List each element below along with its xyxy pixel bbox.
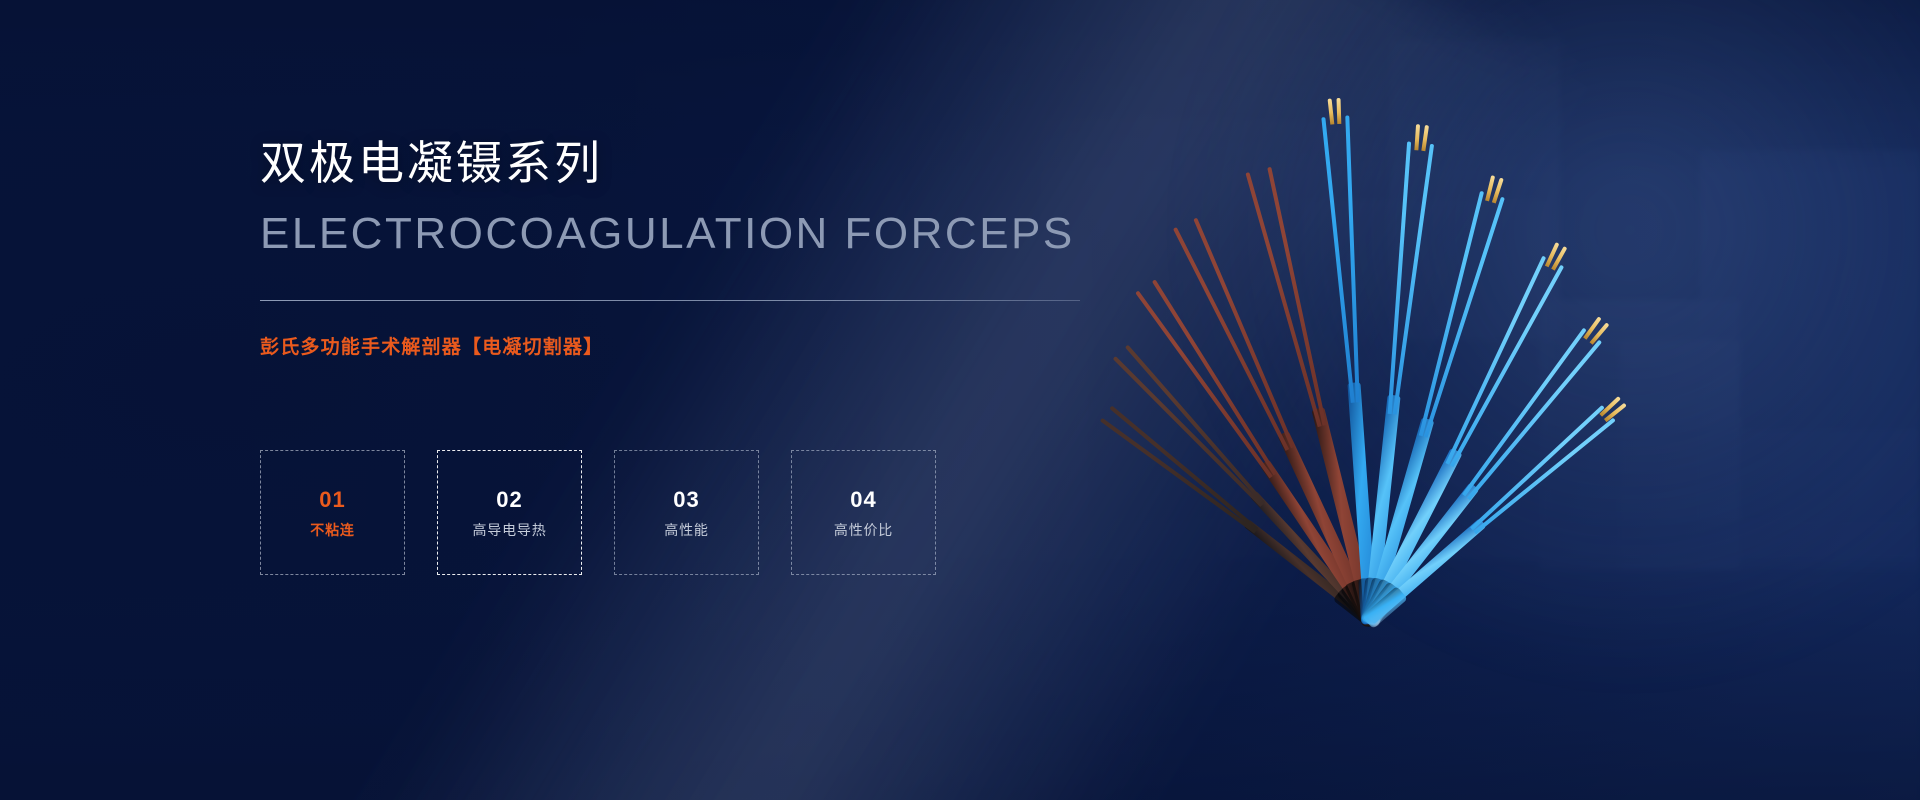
feature-card-02[interactable]: 02 高导电导热 bbox=[437, 450, 582, 575]
feature-card-04[interactable]: 04 高性价比 bbox=[791, 450, 936, 575]
page-subtitle-english: ELECTROCOAGULATION FORCEPS bbox=[260, 212, 1075, 256]
feature-number: 04 bbox=[850, 489, 876, 511]
product-hero-banner: 双极电凝镊系列 ELECTROCOAGULATION FORCEPS 彭氏多功能… bbox=[0, 0, 1920, 800]
feature-number: 02 bbox=[496, 489, 522, 511]
product-tagline: 彭氏多功能手术解剖器【电凝切割器】 bbox=[260, 338, 603, 357]
hero-content: 双极电凝镊系列 ELECTROCOAGULATION FORCEPS 彭氏多功能… bbox=[260, 0, 1140, 800]
page-title: 双极电凝镊系列 bbox=[260, 140, 603, 186]
feature-number: 01 bbox=[319, 489, 345, 511]
feature-label: 高性能 bbox=[664, 523, 708, 537]
feature-card-03[interactable]: 03 高性能 bbox=[614, 450, 759, 575]
divider bbox=[260, 300, 1080, 301]
feature-list: 01 不粘连 02 高导电导热 03 高性能 04 高性价比 bbox=[260, 450, 936, 575]
feature-card-01[interactable]: 01 不粘连 bbox=[260, 450, 405, 575]
feature-number: 03 bbox=[673, 489, 699, 511]
feature-label: 不粘连 bbox=[310, 523, 354, 537]
feature-label: 高性价比 bbox=[834, 523, 893, 537]
feature-label: 高导电导热 bbox=[473, 523, 547, 537]
